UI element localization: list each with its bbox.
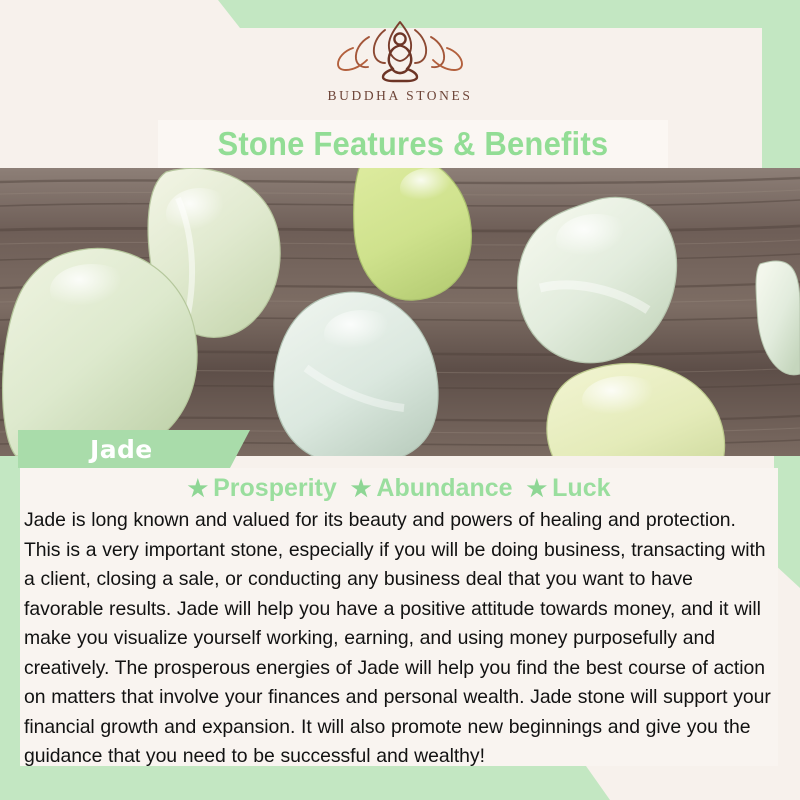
benefit-prosperity: ★ Prosperity bbox=[187, 474, 336, 503]
benefit-luck: ★ Luck bbox=[527, 474, 611, 503]
stone-name-chip: Jade bbox=[18, 430, 250, 468]
lotus-meditation-icon bbox=[329, 18, 471, 84]
infographic-page: BUDDHA STONES Stone Features & Benefits bbox=[0, 0, 800, 800]
star-icon: ★ bbox=[351, 477, 372, 500]
benefit-label: Abundance bbox=[376, 474, 512, 503]
decor-green-left-lower bbox=[0, 440, 20, 780]
benefits-row: ★ Prosperity ★ Abundance ★ Luck bbox=[20, 470, 778, 506]
hero-image bbox=[0, 168, 800, 456]
jade-stones-photo bbox=[0, 168, 800, 456]
title-banner: Stone Features & Benefits bbox=[158, 120, 668, 168]
benefit-abundance: ★ Abundance bbox=[351, 474, 513, 503]
description-text: Jade is long known and valued for its be… bbox=[20, 506, 778, 772]
benefit-label: Prosperity bbox=[213, 474, 337, 503]
star-icon: ★ bbox=[187, 477, 208, 500]
content-card: ★ Prosperity ★ Abundance ★ Luck Jade is … bbox=[20, 468, 778, 766]
page-title: Stone Features & Benefits bbox=[218, 125, 609, 163]
brand-logo: BUDDHA STONES bbox=[0, 18, 800, 118]
benefit-label: Luck bbox=[552, 474, 610, 503]
stone-name: Jade bbox=[90, 435, 153, 464]
star-icon: ★ bbox=[527, 477, 548, 500]
brand-name: BUDDHA STONES bbox=[328, 88, 473, 104]
